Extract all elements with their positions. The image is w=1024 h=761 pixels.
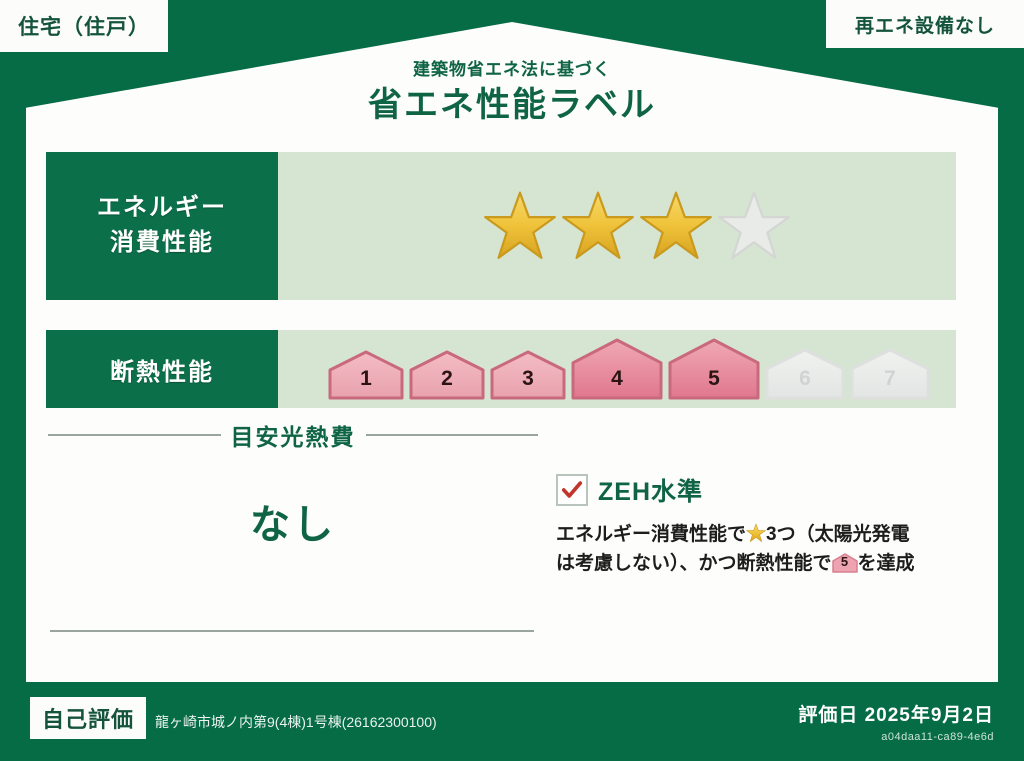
check-icon	[561, 479, 583, 501]
insulation-grade-number: 5	[668, 367, 760, 391]
page-title: 省エネ性能ラベル	[0, 86, 1024, 125]
insulation-grade-active: 2	[409, 350, 485, 400]
insulation-label-text: 断熱性能	[110, 352, 214, 387]
inline-house-grade-value: 5	[832, 553, 858, 573]
insulation-grade-active: 1	[328, 350, 404, 400]
evaluation-date: 評価日 2025年9月2日	[798, 700, 994, 727]
energy-label-line2: 消費性能	[110, 226, 214, 261]
insulation-grade-active: 4	[571, 338, 663, 400]
divider-right	[366, 434, 539, 436]
insulation-grade-active: 3	[490, 350, 566, 400]
insulation-grade-number: 1	[328, 367, 404, 391]
insulation-performance-row: 断熱性能 1234567	[46, 330, 956, 408]
star-filled-icon	[483, 189, 557, 263]
insulation-grade-active: 5	[668, 338, 760, 400]
star-empty	[717, 189, 791, 263]
star-filled	[639, 189, 713, 263]
energy-performance-row: エネルギー 消費性能	[46, 152, 956, 300]
footer-right-group: 評価日 2025年9月2日 a04daa11-ca89-4e6d	[798, 700, 994, 743]
utility-cost-title: 目安光熱費	[231, 418, 356, 452]
evaluation-type-badge: 自己評価	[30, 697, 146, 739]
insulation-grade-number: 7	[850, 367, 930, 391]
zeh-desc-part2: は考慮しない）、かつ断熱性能で	[556, 553, 832, 574]
insulation-performance-label: 断熱性能	[46, 330, 278, 408]
insulation-grade-scale: 1234567	[328, 338, 930, 400]
utility-cost-bottom-divider	[50, 630, 534, 632]
star-filled-icon	[561, 189, 635, 263]
insulation-grade-number: 2	[409, 367, 485, 391]
utility-cost-value: なし	[48, 492, 538, 550]
renewable-equipment-tag: 再エネ設備なし	[826, 0, 1024, 48]
label-footer: 自己評価 龍ヶ崎市城ノ内第9(4棟)1号棟(26162300100) 評価日 2…	[0, 682, 1024, 761]
zeh-desc-part3: を達成	[858, 553, 915, 574]
star-filled	[483, 189, 557, 263]
insulation-grade-number: 4	[571, 367, 663, 391]
zeh-desc-part1: エネルギー消費性能で	[556, 524, 746, 545]
inline-star-icon	[746, 523, 766, 543]
label-title-block: 建築物省エネ法に基づく 省エネ性能ラベル	[0, 60, 1024, 125]
insulation-grade-inactive: 7	[850, 348, 930, 400]
energy-label-root: 住宅（住戸） 再エネ設備なし 建築物省エネ法に基づく 省エネ性能ラベル エネルギ…	[0, 0, 1024, 761]
energy-performance-body	[278, 152, 956, 300]
insulation-grade-inactive: 6	[765, 348, 845, 400]
inline-house-grade-icon: 5	[832, 553, 858, 573]
star-filled-icon	[746, 523, 766, 543]
dwelling-type-tag: 住宅（住戸）	[0, 0, 168, 52]
zeh-checkbox[interactable]	[556, 474, 588, 506]
zeh-heading: ZEH水準	[556, 472, 976, 508]
star-empty-icon	[717, 189, 791, 263]
energy-performance-label: エネルギー 消費性能	[46, 152, 278, 300]
footer-left-group: 自己評価 龍ヶ崎市城ノ内第9(4棟)1号棟(26162300100)	[30, 697, 437, 739]
property-address: 龍ヶ崎市城ノ内第9(4棟)1号棟(26162300100)	[155, 712, 437, 732]
title-subtitle: 建築物省エネ法に基づく	[0, 60, 1024, 80]
zeh-desc-star-count: 3つ（太陽光発電	[766, 524, 910, 545]
insulation-grade-number: 6	[765, 367, 845, 391]
zeh-description: エネルギー消費性能で3つ（太陽光発電 は考慮しない）、かつ断熱性能で5を達成	[556, 520, 976, 579]
star-filled	[561, 189, 635, 263]
insulation-performance-body: 1234567	[278, 330, 956, 408]
energy-label-line1: エネルギー	[97, 191, 227, 226]
divider-left	[48, 434, 221, 436]
zeh-title: ZEH水準	[598, 472, 703, 508]
star-rating	[483, 189, 791, 263]
insulation-grade-number: 3	[490, 367, 566, 391]
document-id: a04daa11-ca89-4e6d	[798, 731, 994, 743]
zeh-block: ZEH水準 エネルギー消費性能で3つ（太陽光発電 は考慮しない）、かつ断熱性能で…	[556, 472, 976, 579]
star-filled-icon	[639, 189, 713, 263]
utility-cost-heading: 目安光熱費	[48, 418, 538, 452]
